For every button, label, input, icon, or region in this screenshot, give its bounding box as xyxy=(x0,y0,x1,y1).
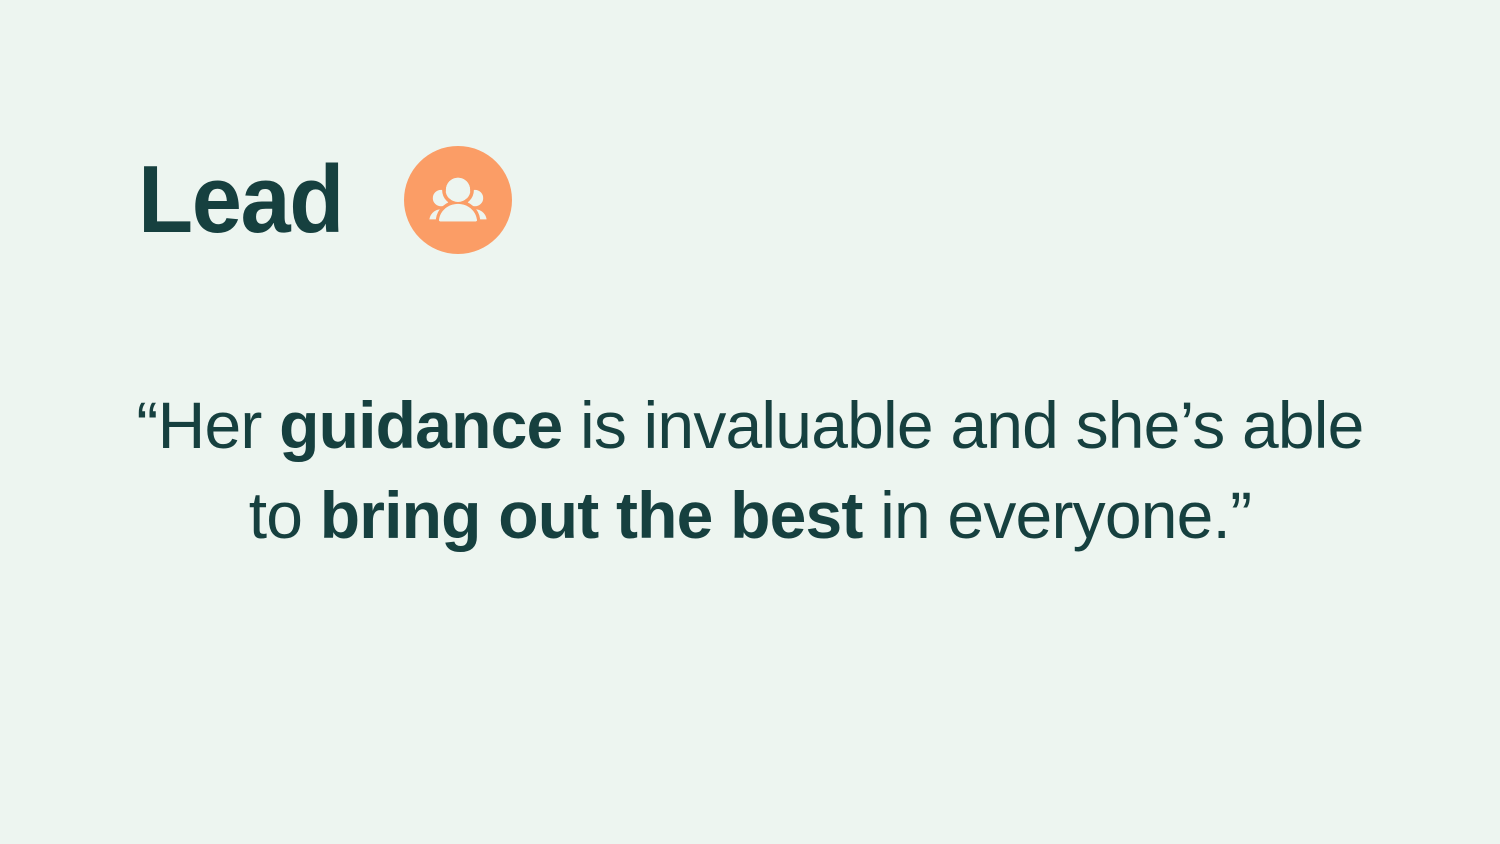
close-quote-mark: ” xyxy=(1230,478,1251,552)
quote-segment-4-emphasis: bring out the best xyxy=(320,478,863,552)
quote-segment-1: Her xyxy=(158,388,280,462)
quote-block: “Her guidance is invaluable and she’s ab… xyxy=(0,380,1500,560)
people-group-glyph xyxy=(427,169,489,231)
open-quote-mark: “ xyxy=(136,388,157,462)
page-title: Lead xyxy=(138,152,343,248)
quote-text: “Her guidance is invaluable and she’s ab… xyxy=(120,380,1380,560)
slide-canvas: Lead “Her guidance is xyxy=(0,0,1500,844)
people-group-icon xyxy=(404,146,512,254)
quote-segment-5: in everyone. xyxy=(863,478,1231,552)
quote-segment-2-emphasis: guidance xyxy=(279,388,562,462)
category-header: Lead xyxy=(138,146,512,254)
